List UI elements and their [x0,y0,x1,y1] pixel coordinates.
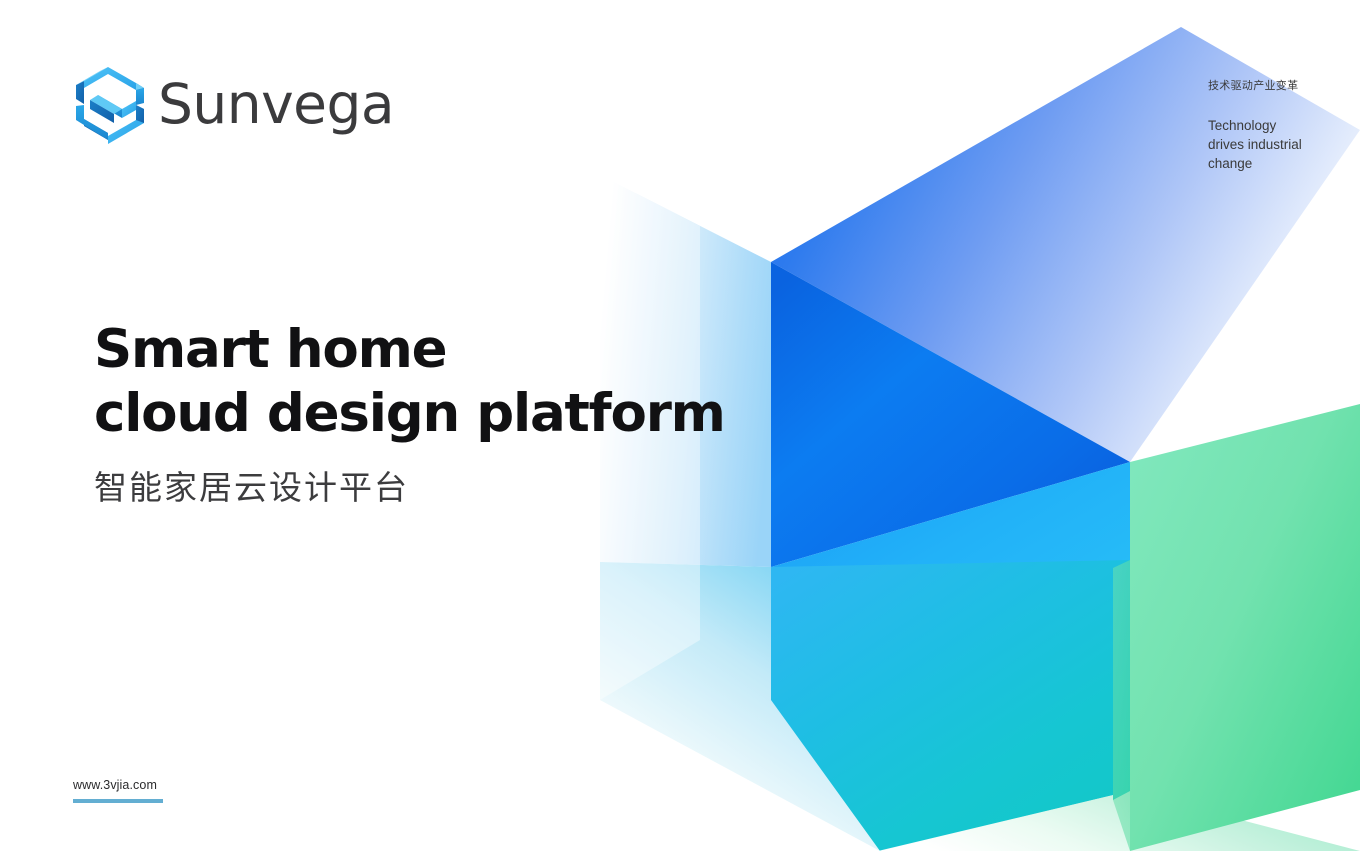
tagline-english: Technology drives industrial change [1208,116,1348,173]
subheadline-chinese: 智能家居云设计平台 [94,467,725,510]
tagline-english-line-2: drives industrial [1208,135,1348,154]
brand-logo-lockup[interactable]: Sunvega [72,64,394,144]
headline-line-2: cloud design platform [94,382,725,446]
footer-underline-rule [73,799,163,803]
shape-green-teal-overlap [1113,560,1130,851]
footer-block: www.3vjia.com [73,778,163,803]
footer-website-url[interactable]: www.3vjia.com [73,778,163,792]
tagline-english-line-3: change [1208,154,1348,173]
headline-line-1: Smart home [94,318,725,382]
tagline-block: 技术驱动产业变革 Technology drives industrial ch… [1208,78,1348,173]
shape-green-right-panel [1130,404,1360,851]
brand-wordmark: Sunvega [158,77,394,132]
tagline-english-line-1: Technology [1208,116,1348,135]
tagline-chinese: 技术驱动产业变革 [1208,78,1348,95]
headline-block: Smart home cloud design platform 智能家居云设计… [94,318,725,510]
logo-cube-icon [72,64,144,144]
slide-canvas: Sunvega 技术驱动产业变革 Technology drives indus… [0,0,1360,851]
